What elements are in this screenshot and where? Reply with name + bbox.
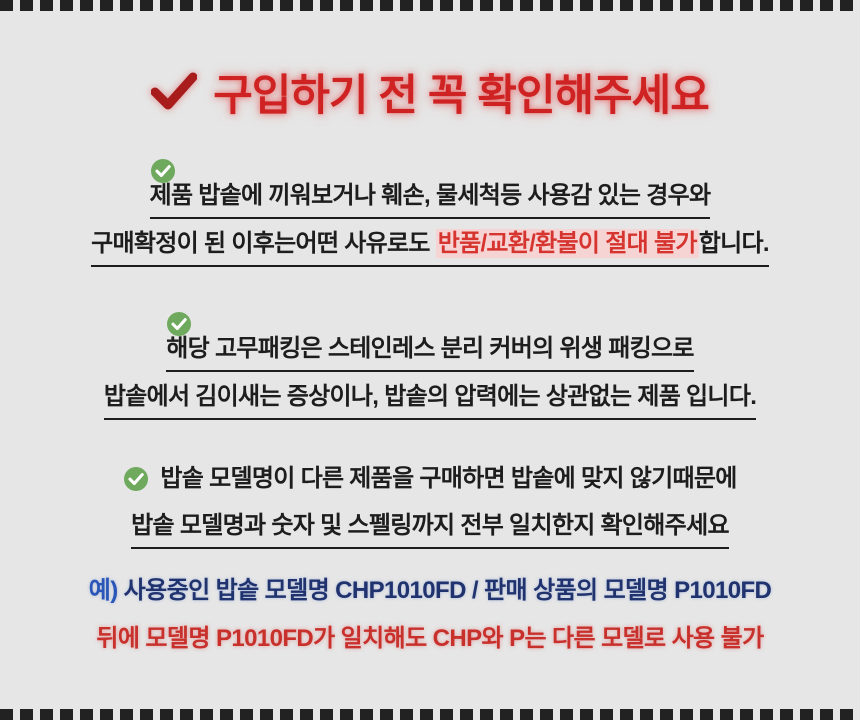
notice-block-3: 밥솥 모델명이 다른 제품을 구매하면 밥솥에 맞지 않기때문에 밥솥 모델명과… — [0, 466, 860, 549]
notice-1-subline-wrap: 구매확정이 된 이후는어떤 사유로도 반품/교환/환불이 절대 불가합니다. — [0, 232, 860, 267]
green-check-circle-icon — [123, 466, 149, 492]
purchase-notice-card: 구입하기 전 꼭 확인해주세요 제품 밥솥에 끼워보거나 훼손, 물세척등 사용… — [0, 0, 860, 720]
notice-1-subline-highlight: 반품/교환/환불이 절대 불가 — [436, 229, 699, 258]
notice-3-headline-text: 밥솥 모델명이 다른 제품을 구매하면 밥솥에 맞지 않기때문에 — [160, 467, 736, 491]
page-title-row: 구입하기 전 꼭 확인해주세요 — [151, 62, 709, 122]
green-check-circle-icon — [150, 158, 176, 184]
notice-3-subline-wrap: 밥솥 모델명과 숫자 및 스펠링까지 전부 일치한지 확인해주세요 — [0, 514, 860, 549]
notice-2-subline: 밥솥에서 김이새는 증상이나, 밥솥의 압력에는 상관없는 제품 입니다. — [104, 385, 756, 420]
check-mark-icon — [151, 72, 197, 112]
notice-3-subline: 밥솥 모델명과 숫자 및 스펠링까지 전부 일치한지 확인해주세요 — [131, 514, 729, 549]
notice-1-subline-before: 구매확정이 된 이후는어떤 사유로도 — [91, 230, 436, 257]
model-example-line: 예) 사용중인 밥솥 모델명 CHP1010FD / 판매 상품의 모델명 P1… — [89, 579, 772, 603]
model-example-text: 사용중인 밥솥 모델명 CHP1010FD / 판매 상품의 모델명 P1010… — [118, 577, 772, 604]
notice-3-headline-row: 밥솥 모델명이 다른 제품을 구매하면 밥솥에 맞지 않기때문에 — [0, 466, 860, 501]
notice-2-subline-wrap: 밥솥에서 김이새는 증상이나, 밥솥의 압력에는 상관없는 제품 입니다. — [0, 385, 860, 420]
model-warning-line: 뒤에 모델명 P1010FD가 일치해도 CHP와 P는 다른 모델로 사용 불… — [96, 627, 763, 651]
dashed-border-bottom — [0, 709, 860, 720]
page-title: 구입하기 전 꼭 확인해주세요 — [213, 61, 709, 123]
notice-2-headline-text: 해당 고무패킹은 스테인레스 분리 커버의 위생 패킹으로 — [166, 335, 694, 362]
model-example-label: 예) — [89, 577, 118, 604]
notice-block-2: 해당 고무패킹은 스테인레스 분리 커버의 위생 패킹으로 밥솥에서 김이새는 … — [0, 311, 860, 420]
green-check-circle-icon — [166, 311, 192, 337]
notice-1-headline-row: 제품 밥솥에 끼워보거나 훼손, 물세척등 사용감 있는 경우와 — [150, 158, 711, 219]
notice-1-subline: 구매확정이 된 이후는어떤 사유로도 반품/교환/환불이 절대 불가합니다. — [91, 232, 769, 267]
notice-1-subline-after: 합니다. — [699, 230, 769, 257]
notice-2-headline-row: 해당 고무패킹은 스테인레스 분리 커버의 위생 패킹으로 — [166, 311, 694, 372]
notice-1-headline-text: 제품 밥솥에 끼워보거나 훼손, 물세척등 사용감 있는 경우와 — [150, 182, 711, 209]
notice-block-1: 제품 밥솥에 끼워보거나 훼손, 물세척등 사용감 있는 경우와 구매확정이 된… — [0, 158, 860, 267]
dashed-border-top — [0, 0, 860, 11]
